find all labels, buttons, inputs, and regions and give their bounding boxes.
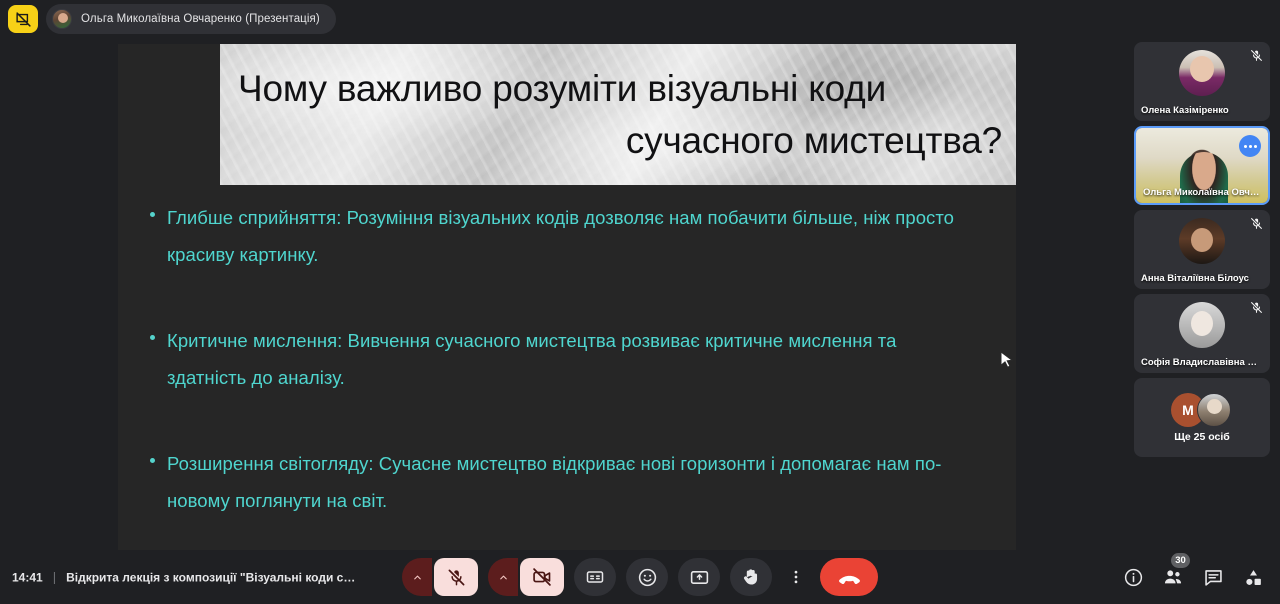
bottom-bar: 14:41 | Відкрита лекція з композиції "Ві… (0, 550, 1280, 604)
present-now-button[interactable] (678, 558, 720, 596)
microphone-toggle-button[interactable] (434, 558, 478, 596)
tile-more-options-button[interactable] (1239, 135, 1261, 157)
participant-tile-overflow[interactable]: M Ще 25 осіб (1134, 378, 1270, 457)
participant-count-badge: 30 (1171, 553, 1190, 568)
clock-time: 14:41 (12, 570, 43, 584)
bullet-text: Глибше сприйняття: Розуміння візуальних … (167, 199, 980, 273)
activities-button[interactable] (1236, 560, 1270, 594)
list-item: Критичне мислення: Вивчення сучасного ми… (150, 322, 980, 396)
mic-off-icon (1250, 217, 1263, 230)
presenter-avatar (52, 9, 72, 29)
camera-toggle-button[interactable] (520, 558, 564, 596)
activities-icon (1243, 567, 1264, 588)
slide-bullet-list: Глибше сприйняття: Розуміння візуальних … (150, 199, 980, 550)
overflow-avatars: M (1171, 393, 1233, 427)
more-vertical-icon (787, 568, 805, 586)
dot (1244, 145, 1247, 148)
mic-off-icon (1250, 49, 1263, 62)
list-item: Розширення світогляду: Сучасне мистецтво… (150, 445, 980, 519)
raised-hand-icon (741, 567, 761, 587)
bullet-dot-icon (150, 212, 155, 217)
dot (1254, 145, 1257, 148)
dot (1249, 145, 1252, 148)
call-controls (402, 558, 878, 596)
people-icon (1162, 566, 1184, 588)
present-screen-icon (689, 567, 710, 588)
mic-off-icon (1250, 301, 1263, 314)
meeting-right-actions: 30 (1116, 560, 1270, 594)
reactions-button[interactable] (626, 558, 668, 596)
participant-name: Олена Казіміренко (1141, 105, 1263, 116)
avatar (1197, 393, 1231, 427)
participant-tile-anna[interactable]: Анна Віталіївна Білоус (1134, 210, 1270, 289)
participant-tile-olga[interactable]: Ольга Миколаївна Овч… (1134, 126, 1270, 205)
participant-tile-sofia[interactable]: Софія Владиславівна Б… (1134, 294, 1270, 373)
slide-title-line-1: Чому важливо розуміти візуальні коди (238, 63, 1002, 115)
participant-name: Софія Владиславівна Б… (1141, 357, 1263, 368)
info-icon (1123, 567, 1144, 588)
more-options-button[interactable] (782, 558, 810, 596)
hang-up-icon (837, 565, 862, 590)
presenter-pill[interactable]: Ольга Миколаївна Овчаренко (Презентація) (46, 4, 336, 34)
meeting-title: Відкрита лекція з композиції "Візуальні … (66, 570, 356, 584)
stop-presenting-icon (15, 11, 32, 28)
slide-title-banner: Чому важливо розуміти візуальні коди суч… (220, 44, 1016, 185)
bullet-dot-icon (150, 335, 155, 340)
bullet-text: Розширення світогляду: Сучасне мистецтво… (167, 445, 980, 519)
avatar (1179, 302, 1225, 348)
participant-rail: Олена Казіміренко Ольга Миколаївна Овч… … (1134, 42, 1270, 462)
microphone-options-button[interactable] (402, 558, 432, 596)
slide-title-line-2: сучасного мистецтва? (238, 115, 1002, 167)
participant-name: Ольга Миколаївна Овч… (1143, 187, 1261, 198)
shared-screen-stage[interactable]: Чому важливо розуміти візуальні коди суч… (118, 44, 1016, 550)
camera-off-icon (532, 567, 552, 587)
avatar (1179, 50, 1225, 96)
separator: | (53, 570, 56, 585)
participant-name: Анна Віталіївна Білоус (1141, 273, 1263, 284)
mic-off-icon (447, 568, 466, 587)
meeting-status: 14:41 | Відкрита лекція з композиції "Ві… (12, 570, 356, 585)
captions-icon (585, 567, 605, 587)
participant-tile-olena[interactable]: Олена Казіміренко (1134, 42, 1270, 121)
meeting-details-button[interactable] (1116, 560, 1150, 594)
camera-options-button[interactable] (488, 558, 518, 596)
chat-button[interactable] (1196, 560, 1230, 594)
avatar (1179, 218, 1225, 264)
bullet-text: Критичне мислення: Вивчення сучасного ми… (167, 322, 980, 396)
overflow-label: Ще 25 осіб (1174, 431, 1230, 443)
microphone-control-group (402, 558, 478, 596)
bullet-dot-icon (150, 458, 155, 463)
chevron-up-icon (498, 572, 509, 583)
top-bar: Ольга Миколаївна Овчаренко (Презентація) (0, 0, 1280, 38)
chevron-up-icon (412, 572, 423, 583)
captions-button[interactable] (574, 558, 616, 596)
chat-icon (1203, 567, 1224, 588)
end-call-button[interactable] (820, 558, 878, 596)
emoji-smile-icon (637, 567, 658, 588)
meeting-screen: Ольга Миколаївна Овчаренко (Презентація)… (0, 0, 1280, 604)
raise-hand-button[interactable] (730, 558, 772, 596)
presenter-name: Ольга Миколаївна Овчаренко (Презентація) (81, 13, 320, 25)
list-item: Глибше сприйняття: Розуміння візуальних … (150, 199, 980, 273)
camera-control-group (488, 558, 564, 596)
stop-presenting-button[interactable] (8, 5, 38, 33)
people-button[interactable]: 30 (1156, 560, 1190, 594)
